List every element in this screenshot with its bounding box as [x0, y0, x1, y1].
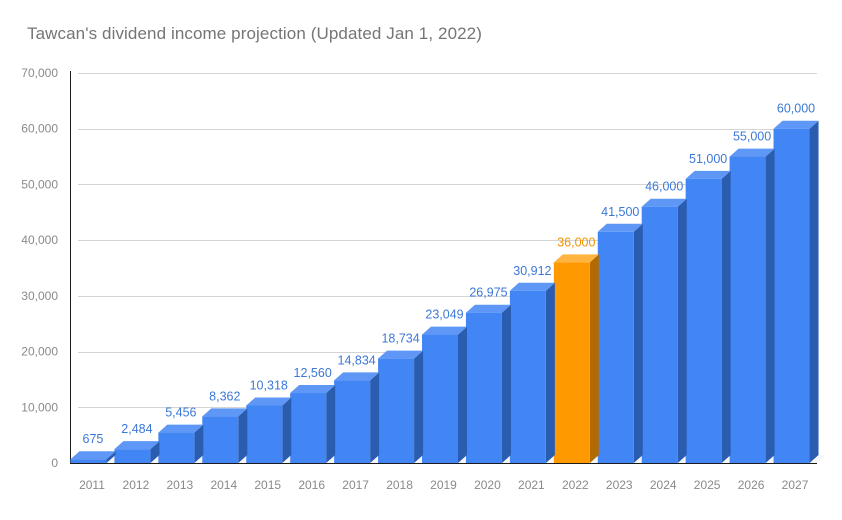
bar-2015[interactable]	[246, 398, 291, 463]
y-axis-tick-label: 0	[51, 456, 58, 470]
x-axis-tick-label: 2015	[254, 478, 281, 492]
x-axis-tick-label: 2027	[782, 478, 809, 492]
bar-value-label: 2,484	[121, 422, 152, 436]
x-axis-tick-label: 2011	[79, 478, 105, 492]
bar-value-label: 55,000	[733, 130, 771, 144]
bar-2026[interactable]	[730, 149, 775, 463]
y-axis-tick-label: 70,000	[21, 66, 58, 80]
x-axis-tick-label: 2019	[430, 478, 457, 492]
x-axis-tick-label: 2025	[694, 478, 721, 492]
bar-value-label: 41,500	[601, 205, 639, 219]
y-axis-tick-labels: 010,00020,00030,00040,00050,00060,00070,…	[21, 66, 58, 470]
bar-2012[interactable]	[114, 441, 159, 463]
x-axis-tick-label: 2024	[650, 478, 677, 492]
bar-value-label: 8,362	[209, 389, 240, 403]
bar-side-face	[370, 372, 379, 463]
x-axis-tick-labels: 2027202620252024202320222021202020192018…	[79, 478, 809, 492]
x-axis-tick-label: 2013	[167, 478, 194, 492]
bar-front-face	[378, 359, 414, 463]
y-axis-tick-label: 20,000	[21, 345, 58, 359]
bar-2014[interactable]	[202, 408, 247, 463]
bar-side-face	[414, 351, 423, 463]
bar-chart-plot: 010,00020,00030,00040,00050,00060,00070,…	[0, 0, 842, 520]
bar-side-face	[678, 199, 687, 463]
bar-value-label: 36,000	[557, 235, 595, 249]
y-axis-tick-label: 10,000	[21, 400, 58, 414]
bar-front-face	[246, 406, 282, 463]
bar-2027[interactable]	[774, 121, 819, 463]
bar-value-label: 18,734	[381, 332, 419, 346]
bar-2019[interactable]	[422, 327, 467, 463]
x-axis-tick-label: 2021	[518, 478, 545, 492]
bar-side-face	[766, 149, 775, 463]
bar-front-face	[290, 393, 326, 463]
x-axis-tick-label: 2012	[123, 478, 150, 492]
bar-2017[interactable]	[334, 372, 379, 463]
bar-value-label: 14,834	[338, 353, 376, 367]
x-axis-tick-label: 2026	[738, 478, 765, 492]
x-axis-tick-label: 2017	[342, 478, 369, 492]
bar-value-label: 30,912	[513, 264, 551, 278]
bar-side-face	[238, 408, 247, 463]
bar-side-face	[458, 327, 467, 463]
bar-2013[interactable]	[158, 425, 203, 463]
y-axis-tick-label: 50,000	[21, 177, 58, 191]
x-axis-tick-label: 2022	[562, 478, 589, 492]
bar-2020[interactable]	[466, 305, 511, 463]
bar-front-face	[422, 335, 458, 463]
bar-2022[interactable]	[554, 254, 599, 463]
x-axis-tick-label: 2016	[298, 478, 325, 492]
bar-2018[interactable]	[378, 351, 423, 463]
bar-value-label: 51,000	[689, 152, 727, 166]
bar-value-label: 26,975	[469, 286, 507, 300]
bar-side-face	[326, 385, 335, 463]
bar-value-label: 675	[83, 432, 104, 446]
y-axis-tick-label: 60,000	[21, 122, 58, 136]
bar-value-label: 5,456	[165, 406, 196, 420]
bar-front-face	[730, 157, 766, 463]
bar-value-label: 10,318	[250, 379, 288, 393]
bar-side-face	[634, 224, 643, 463]
bar-value-label: 46,000	[645, 180, 683, 194]
bar-value-label: 23,049	[425, 308, 463, 322]
y-axis-tick-label: 30,000	[21, 289, 58, 303]
bar-front-face	[70, 459, 106, 463]
bar-side-face	[722, 171, 731, 463]
x-axis-tick-label: 2023	[606, 478, 633, 492]
bar-front-face	[598, 232, 634, 463]
chart-container: Tawcan's dividend income projection (Upd…	[0, 0, 842, 520]
bar-front-face	[158, 433, 194, 463]
bar-front-face	[334, 380, 370, 463]
x-axis-tick-label: 2014	[210, 478, 237, 492]
bar-front-face	[114, 449, 150, 463]
bar-side-face	[546, 283, 555, 463]
bar-2024[interactable]	[642, 199, 687, 463]
bar-value-label: 60,000	[777, 102, 815, 116]
bar-front-face	[202, 416, 238, 463]
bar-2025[interactable]	[686, 171, 731, 463]
bar-front-face	[774, 129, 810, 463]
bar-side-face	[502, 305, 511, 463]
bar-side-face	[810, 121, 819, 463]
bar-front-face	[466, 313, 502, 463]
bar-side-face	[282, 398, 291, 463]
bar-front-face	[642, 207, 678, 463]
y-axis-tick-label: 40,000	[21, 233, 58, 247]
bar-side-face	[590, 254, 599, 463]
bar-value-label: 12,560	[294, 366, 332, 380]
bar-front-face	[554, 262, 590, 463]
bar-front-face	[686, 179, 722, 463]
bar-2021[interactable]	[510, 283, 555, 463]
x-axis-tick-label: 2020	[474, 478, 501, 492]
x-axis-tick-label: 2018	[386, 478, 413, 492]
bar-2016[interactable]	[290, 385, 335, 463]
bar-front-face	[510, 291, 546, 463]
bar-2023[interactable]	[598, 224, 643, 463]
